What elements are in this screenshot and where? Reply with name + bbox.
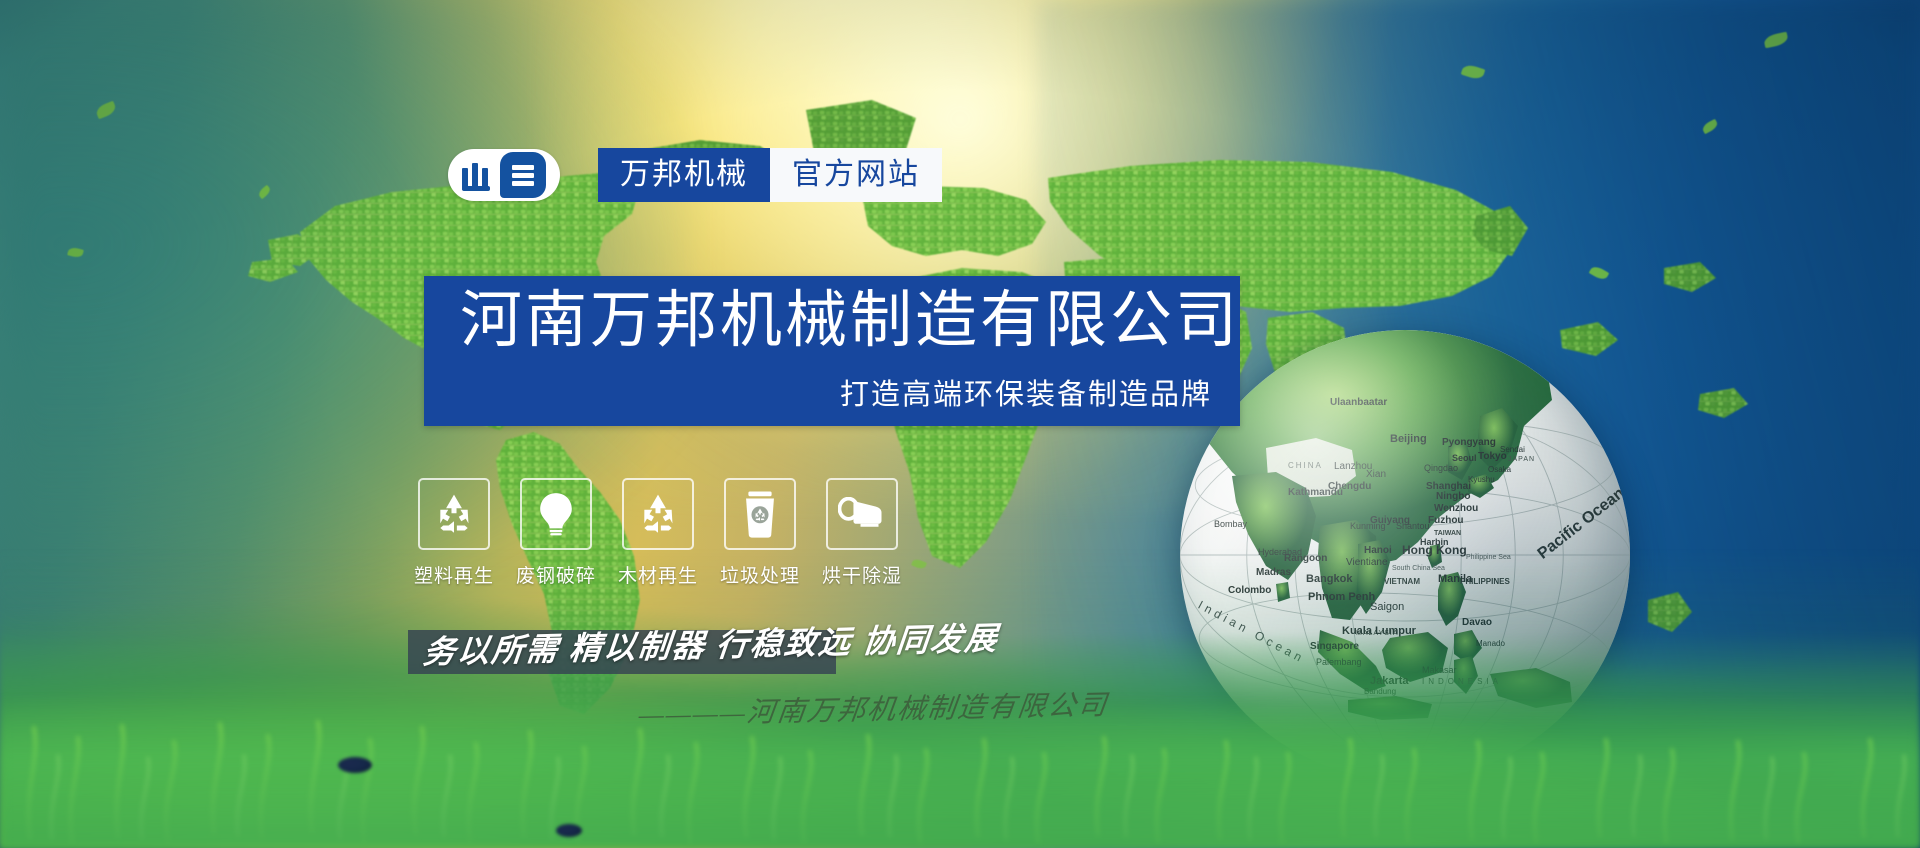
recycle-icon bbox=[622, 478, 694, 550]
wanbang-logo[interactable] bbox=[448, 149, 560, 201]
recycle-icon bbox=[418, 478, 490, 550]
service-icon-row: 塑料再生 废钢破碎 bbox=[418, 478, 898, 588]
service-item-plastic-recycling[interactable]: 塑料再生 bbox=[418, 478, 490, 588]
service-label: 木材再生 bbox=[618, 561, 698, 588]
service-label: 塑料再生 bbox=[414, 561, 494, 588]
brand-tabs: 万邦机械 官方网站 bbox=[598, 148, 942, 202]
service-item-drying-dehumidifying[interactable]: 烘干除湿 bbox=[826, 478, 898, 588]
insect-speck bbox=[338, 757, 372, 773]
company-name-title: 河南万邦机械制造有限公司 bbox=[460, 290, 1240, 352]
insect-speck bbox=[556, 824, 582, 837]
service-item-wood-recycling[interactable]: 木材再生 bbox=[622, 478, 694, 588]
logo-w-icon bbox=[462, 160, 496, 190]
hero-banner: Pacific Ocean Indian Ocean South China S… bbox=[0, 0, 1920, 848]
service-item-scrap-steel-crushing[interactable]: 废钢破碎 bbox=[520, 478, 592, 588]
service-label: 烘干除湿 bbox=[822, 561, 902, 588]
service-label: 废钢破碎 bbox=[516, 561, 596, 588]
service-item-waste-treatment[interactable]: 垃圾处理 bbox=[724, 478, 796, 588]
tab-official-website[interactable]: 官方网站 bbox=[770, 148, 942, 202]
trash-bin-recycle-icon bbox=[724, 478, 796, 550]
tab-wanbang-jixie[interactable]: 万邦机械 bbox=[598, 148, 770, 202]
company-banner: 河南万邦机械制造有限公司 打造高端环保装备制造品牌 bbox=[424, 276, 1240, 426]
dryer-machine-icon bbox=[826, 478, 898, 550]
logo-b-speech-bubble-icon bbox=[500, 152, 546, 198]
service-label: 垃圾处理 bbox=[720, 561, 800, 588]
lightbulb-icon bbox=[520, 478, 592, 550]
brand-bar: 万邦机械 官方网站 bbox=[448, 148, 942, 202]
company-tagline: 打造高端环保装备制造品牌 bbox=[840, 381, 1212, 410]
